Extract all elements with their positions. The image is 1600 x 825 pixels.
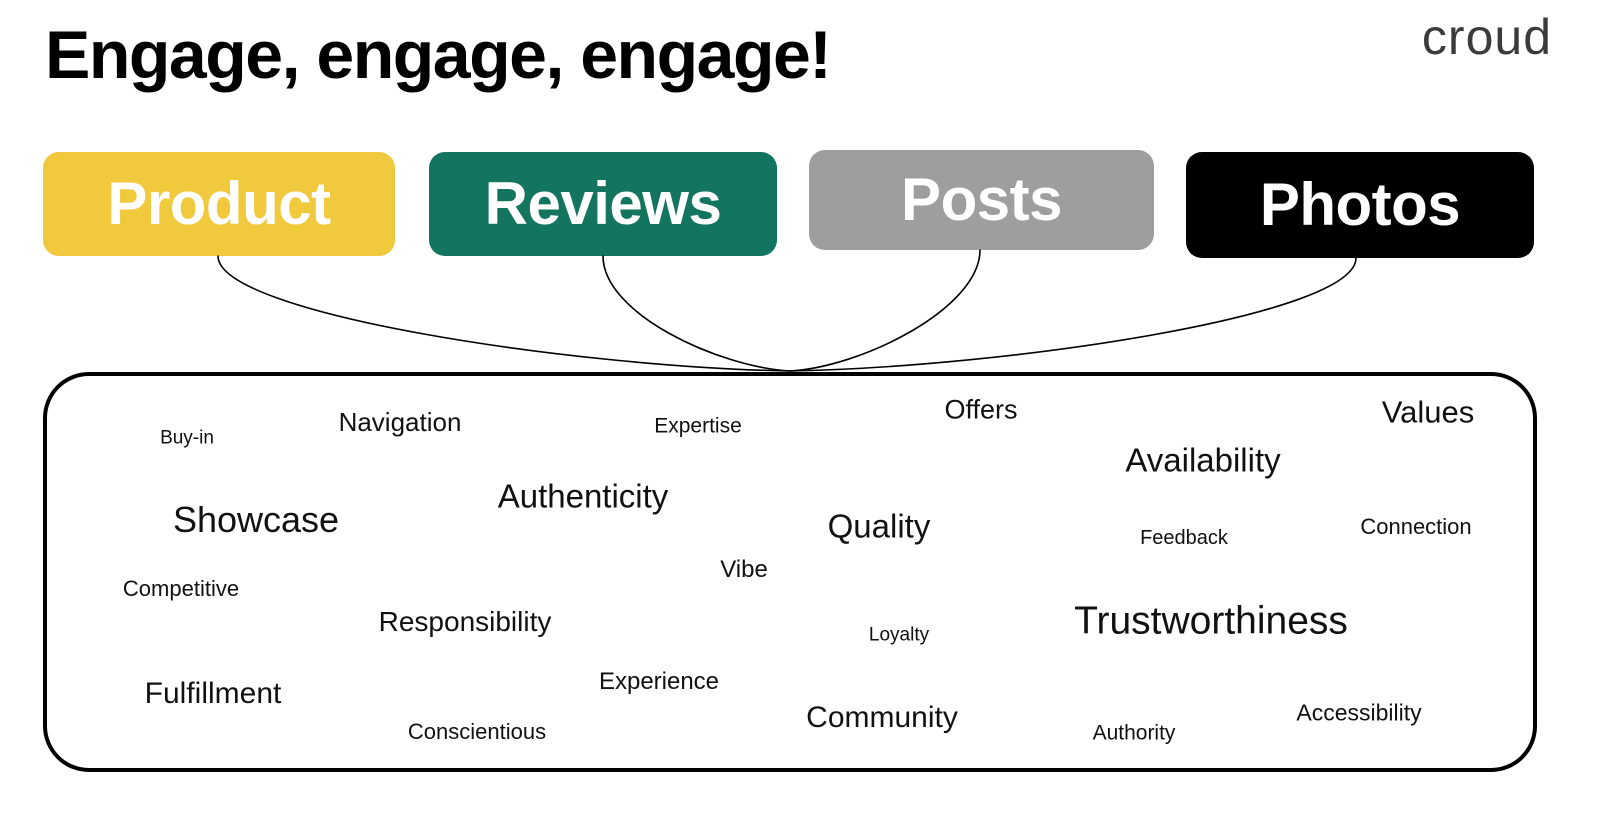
- category-label: Photos: [1260, 175, 1460, 235]
- cloud-word: Connection: [1360, 516, 1471, 538]
- cloud-word: Quality: [828, 510, 931, 543]
- cloud-word: Buy-in: [160, 429, 214, 448]
- cloud-word: Expertise: [654, 416, 742, 437]
- cloud-word: Conscientious: [408, 721, 546, 743]
- cloud-word: Authority: [1093, 723, 1176, 744]
- category-label: Reviews: [485, 174, 722, 234]
- connector-path: [790, 250, 980, 371]
- cloud-word: Fulfillment: [145, 679, 282, 709]
- cloud-word: Vibe: [720, 558, 768, 582]
- cloud-word: Navigation: [339, 409, 462, 435]
- category-label: Product: [107, 174, 330, 234]
- word-cloud-inner: Buy-inNavigationExpertiseOffersValuesAva…: [47, 376, 1533, 768]
- word-cloud-container: Buy-inNavigationExpertiseOffersValuesAva…: [43, 372, 1537, 772]
- category-button-reviews[interactable]: Reviews: [429, 152, 777, 256]
- category-label: Posts: [901, 170, 1062, 230]
- cloud-word: Offers: [944, 397, 1017, 424]
- cloud-word: Availability: [1125, 444, 1280, 477]
- cloud-word: Experience: [599, 670, 719, 694]
- cloud-word: Community: [806, 703, 958, 733]
- connector-path: [603, 256, 790, 371]
- category-button-posts[interactable]: Posts: [809, 150, 1154, 250]
- connector-path: [790, 258, 1356, 371]
- cloud-word: Showcase: [173, 502, 339, 538]
- cloud-word: Competitive: [123, 578, 239, 600]
- cloud-word: Responsibility: [379, 608, 552, 636]
- category-button-product[interactable]: Product: [43, 152, 395, 256]
- cloud-word: Trustworthiness: [1074, 602, 1348, 641]
- croud-logo: croud: [1422, 12, 1552, 62]
- cloud-word: Values: [1382, 397, 1475, 428]
- connector-path: [218, 256, 790, 371]
- cloud-word: Feedback: [1140, 528, 1228, 548]
- page-title: Engage, engage, engage!: [45, 18, 830, 93]
- cloud-word: Accessibility: [1296, 702, 1421, 725]
- slide-root: Engage, engage, engage! croud Product Re…: [0, 0, 1600, 825]
- cloud-word: Authenticity: [498, 480, 669, 513]
- cloud-word: Loyalty: [869, 626, 929, 645]
- category-button-photos[interactable]: Photos: [1186, 152, 1534, 258]
